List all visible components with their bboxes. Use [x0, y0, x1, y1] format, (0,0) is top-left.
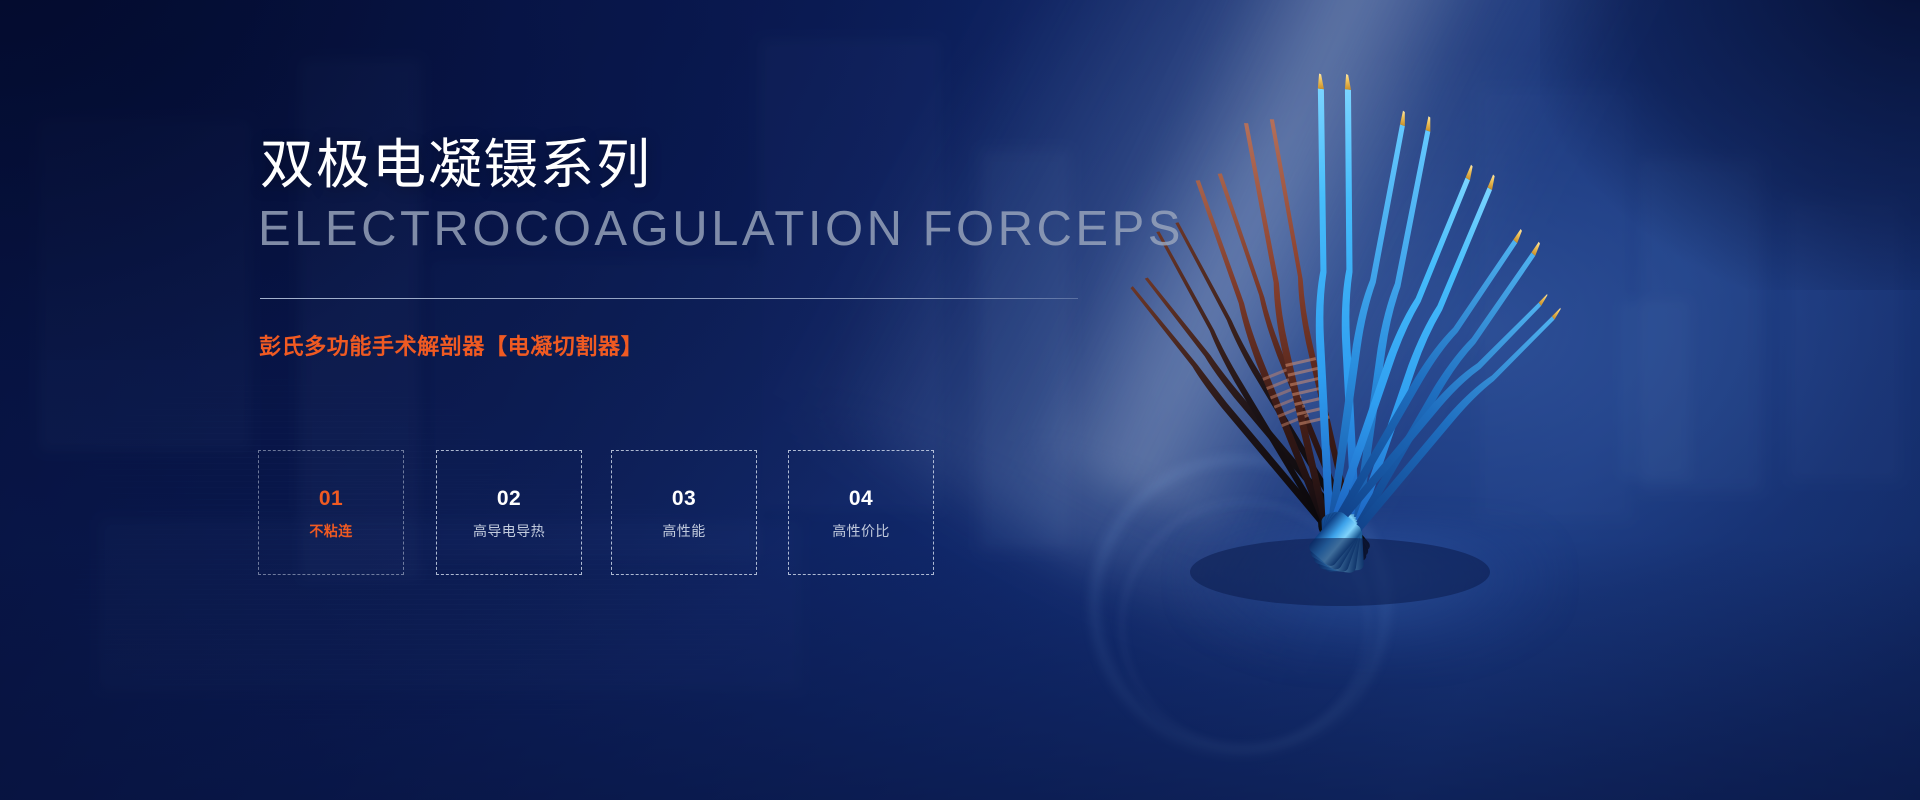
banner-content: 双极电凝镊系列 ELECTROCOAGULATION FORCEPS 彭氏多功能…: [0, 0, 1920, 800]
feature-card-01[interactable]: 01 不粘连: [258, 450, 404, 575]
page-title: 双极电凝镊系列: [260, 138, 652, 192]
page-subtitle-english: ELECTROCOAGULATION FORCEPS: [258, 205, 1184, 254]
feature-number: 02: [497, 488, 521, 509]
feature-label: 高性能: [662, 524, 705, 538]
feature-label: 高性价比: [832, 524, 890, 538]
feature-list: 01 不粘连 02 高导电导热 03 高性能 04 高性价比: [258, 450, 948, 580]
feature-number: 04: [849, 488, 873, 509]
product-banner: 双极电凝镊系列 ELECTROCOAGULATION FORCEPS 彭氏多功能…: [0, 0, 1920, 800]
feature-card-03[interactable]: 03 高性能: [611, 450, 757, 575]
feature-label: 不粘连: [309, 524, 352, 538]
feature-label: 高导电导热: [473, 524, 545, 538]
product-tagline: 彭氏多功能手术解剖器【电凝切割器】: [259, 336, 643, 358]
feature-card-04[interactable]: 04 高性价比: [788, 450, 934, 575]
feature-number: 01: [319, 488, 343, 509]
feature-card-02[interactable]: 02 高导电导热: [436, 450, 582, 575]
feature-number: 03: [672, 488, 696, 509]
title-divider: [260, 298, 1078, 299]
